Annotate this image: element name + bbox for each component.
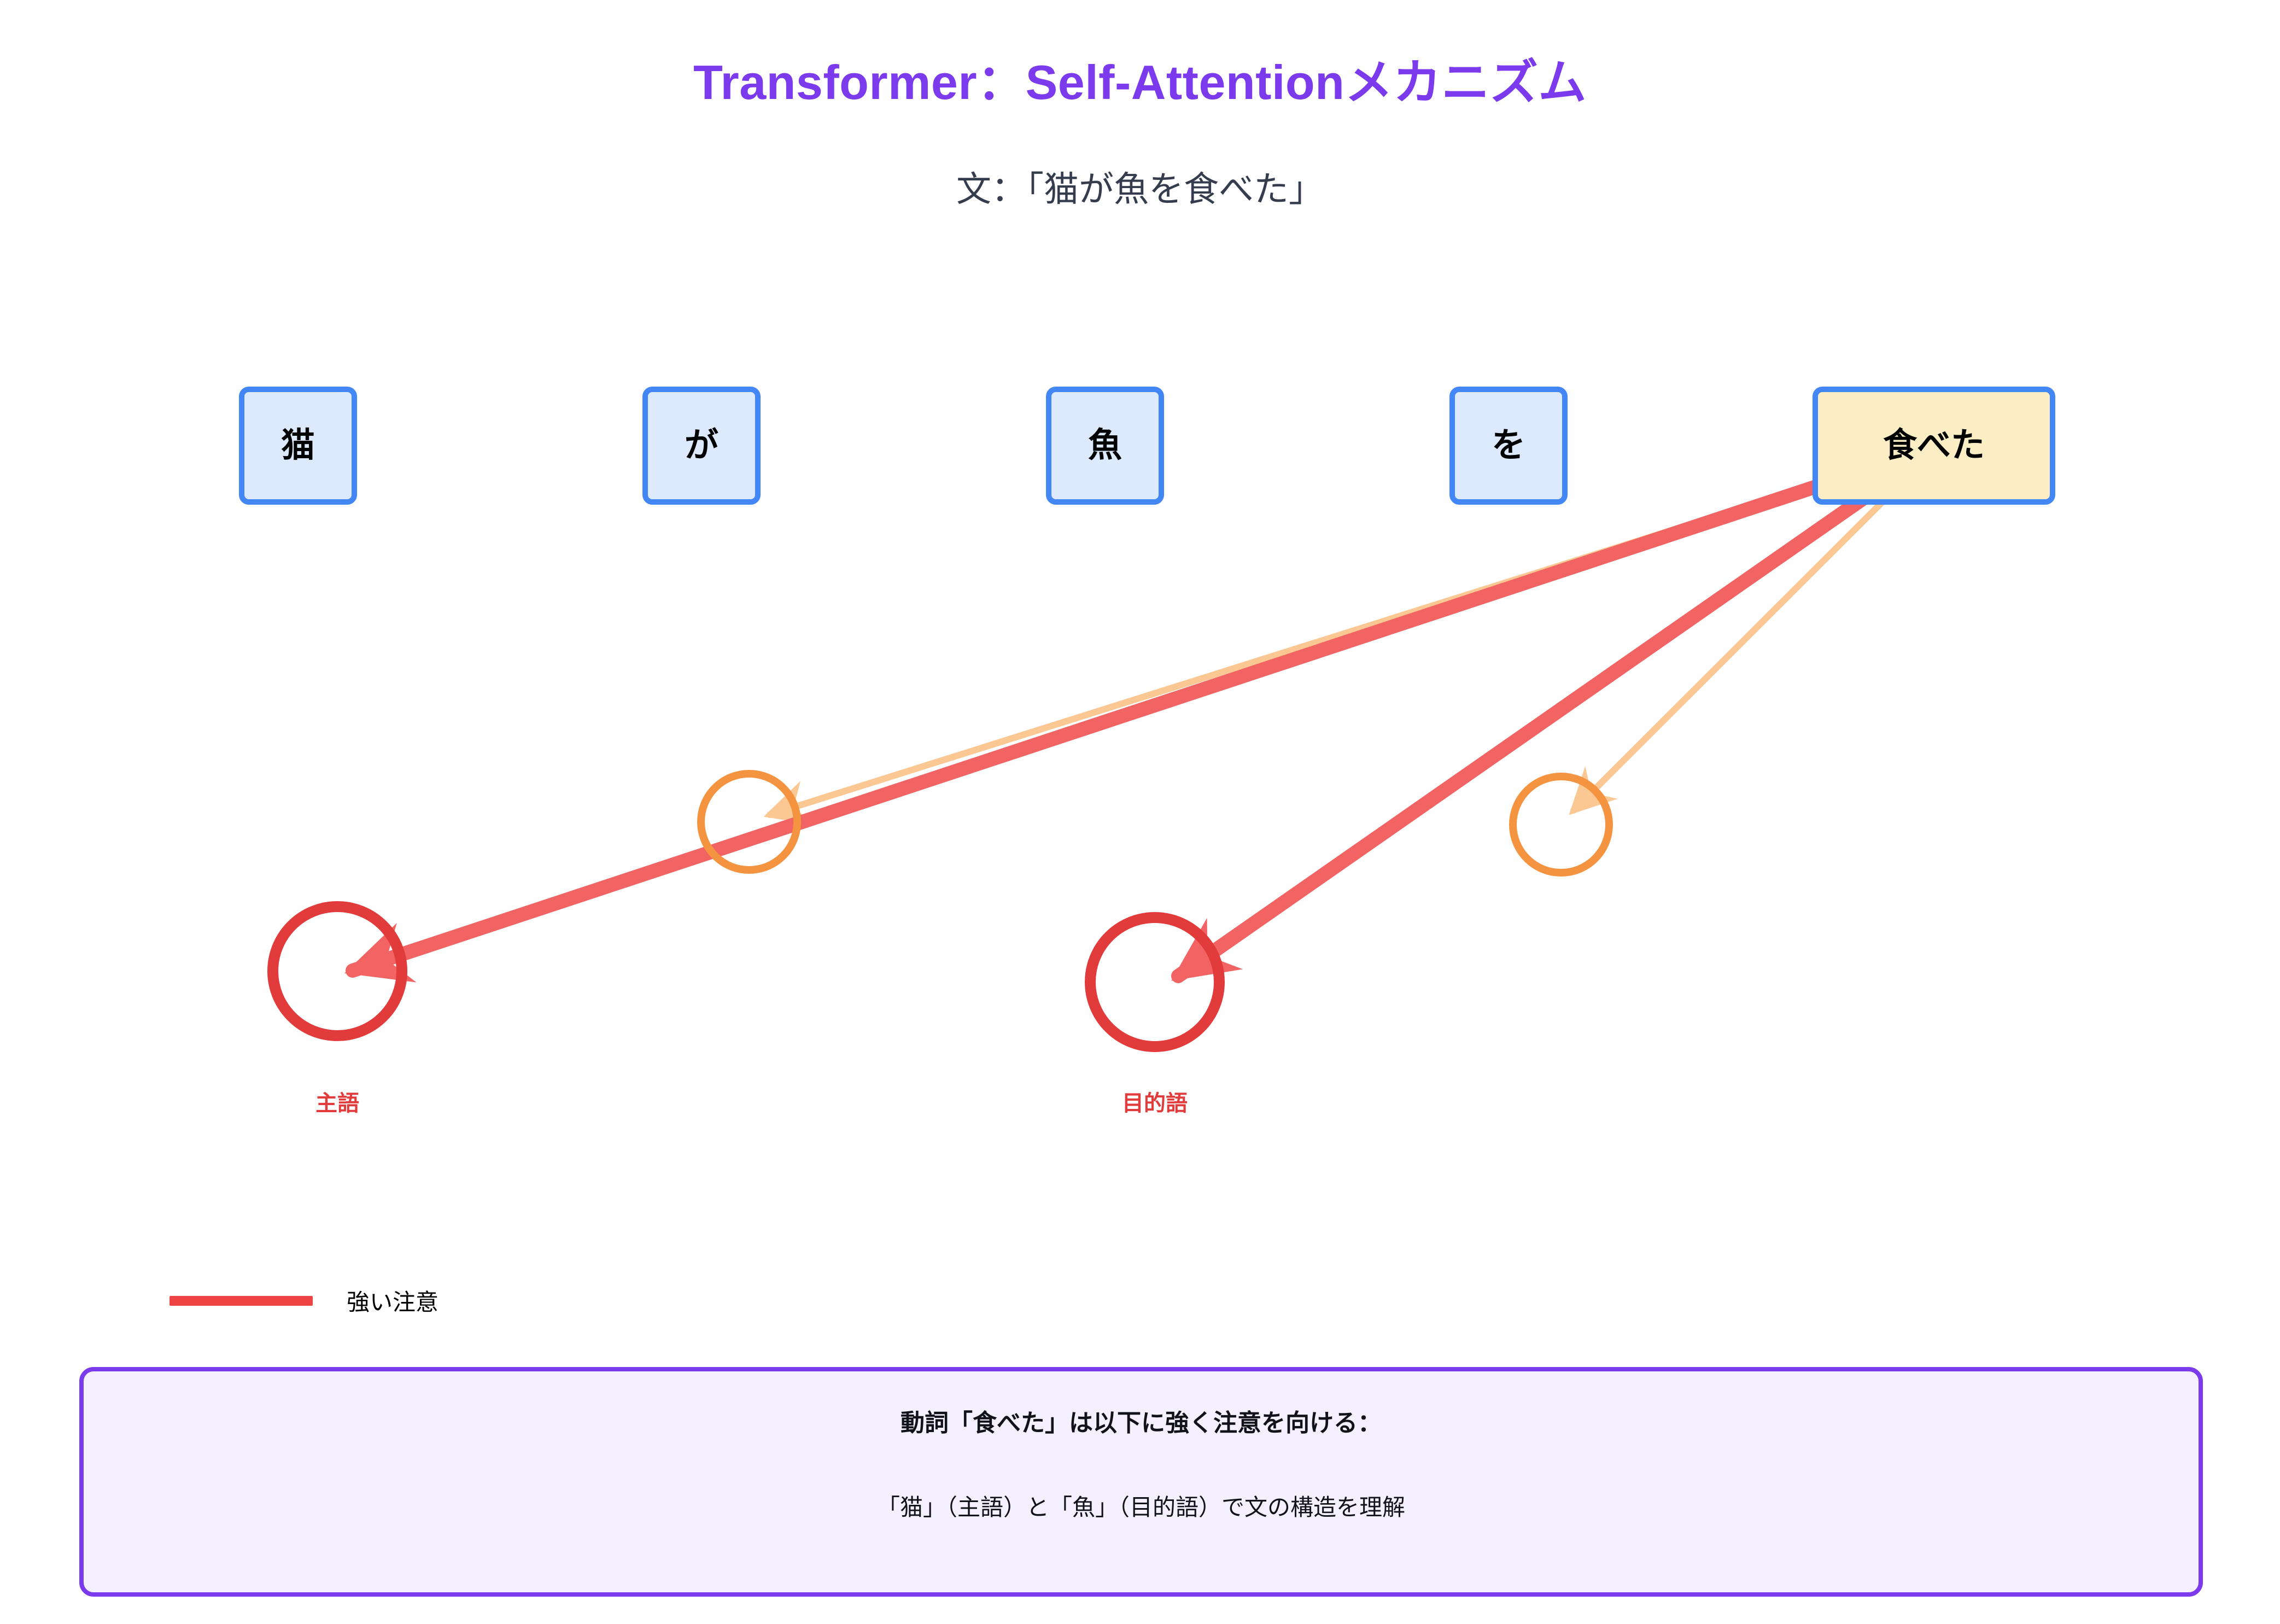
token-box-0[interactable]: 猫 — [239, 387, 357, 505]
explanation-panel: 動詞「食べた」は以下に強く注意を向ける： 「猫」（主語）と「魚」（目的語）で文の… — [79, 1367, 2203, 1597]
token-label-3: を — [1492, 429, 1525, 463]
legend-item-strong: 強い注意 — [169, 1284, 439, 1317]
diagram-canvas: Transformer：Self-Attentionメカニズム 文：「猫が魚を食… — [0, 0, 2280, 1624]
token-label-0: 猫 — [281, 429, 315, 463]
role-label-object: 目的語 — [1122, 1085, 1188, 1117]
legend-label-strong: 強い注意 — [347, 1284, 439, 1317]
attention-edge-weak-ga — [770, 446, 1938, 815]
explanation-line-2: 「猫」（主語）と「魚」（目的語）で文の構造を理解 — [84, 1489, 2199, 1522]
token-box-3[interactable]: を — [1449, 387, 1568, 505]
page-title: Transformer：Self-Attentionメカニズム — [0, 44, 2280, 113]
token-box-2[interactable]: 魚 — [1046, 387, 1164, 505]
explanation-line-1: 動詞「食べた」は以下に強く注意を向ける： — [84, 1403, 2199, 1438]
attention-target-circle-weak-ga — [701, 774, 797, 870]
token-label-2: 魚 — [1088, 429, 1122, 463]
role-label-subject: 主語 — [315, 1085, 359, 1117]
legend-swatch-strong-icon — [169, 1296, 313, 1306]
attention-target-circle-object — [1090, 918, 1219, 1047]
attention-edge-strong-neko — [353, 446, 1938, 971]
token-box-4[interactable]: 食べた — [1813, 387, 2055, 505]
attention-target-circle-weak-wo — [1513, 776, 1609, 873]
token-label-1: が — [685, 429, 718, 463]
token-box-1[interactable]: が — [642, 387, 761, 505]
attention-edge-strong-sakana — [1178, 446, 1938, 976]
sentence-subtitle: 文：「猫が魚を食べた」 — [0, 161, 2280, 212]
token-label-4: 食べた — [1883, 429, 1985, 463]
attention-target-circle-subject — [273, 907, 402, 1036]
